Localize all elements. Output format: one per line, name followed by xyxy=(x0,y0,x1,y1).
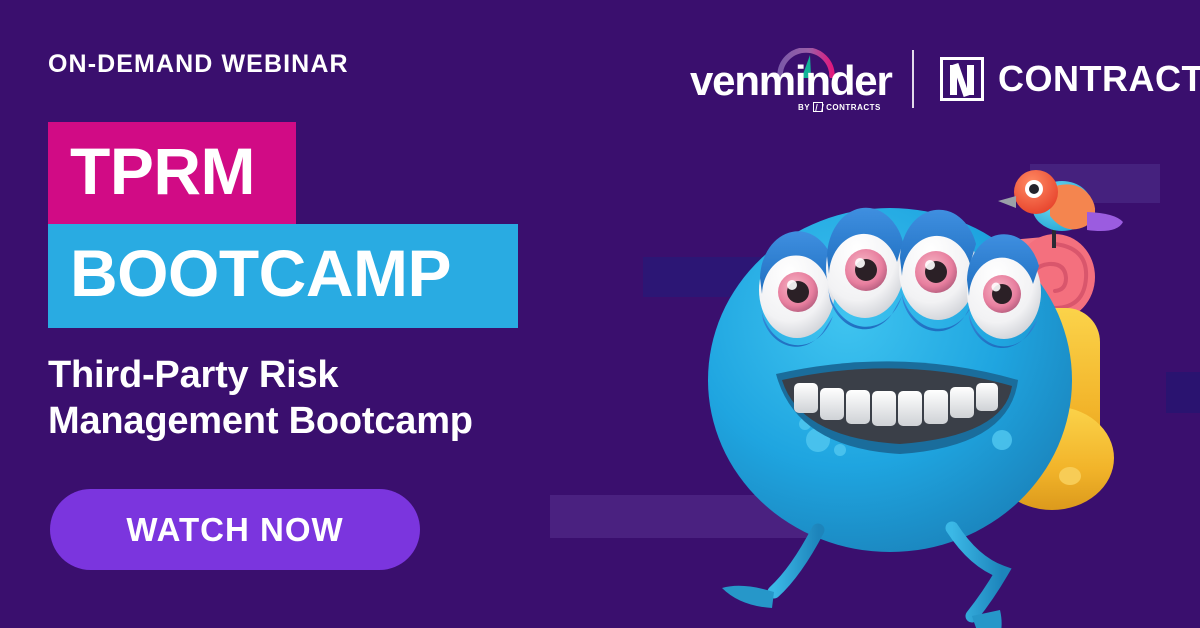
title-block: TPRM BOOTCAMP xyxy=(48,122,518,328)
logo-lockup: venminder BY CONTRACTS CONTRACTS xyxy=(690,48,1200,110)
n-diagonal-stroke xyxy=(953,63,970,97)
subtitle-block: Third-Party Risk Management Bootcamp xyxy=(48,352,473,445)
n-square-icon-small xyxy=(813,102,823,112)
blue-monster-mascot xyxy=(600,140,1200,628)
venminder-wordmark: venminder xyxy=(690,60,892,102)
webinar-promo-banner: venminder BY CONTRACTS CONTRACTS ON-DEMA… xyxy=(0,0,1200,628)
ncontracts-wordmark: CONTRACTS xyxy=(998,61,1200,97)
venminder-byline: BY CONTRACTS xyxy=(798,102,881,112)
title-tag-tprm: TPRM xyxy=(48,122,296,224)
byline-brand: CONTRACTS xyxy=(826,103,881,112)
title-tag-bootcamp: BOOTCAMP xyxy=(48,224,518,328)
venminder-logo[interactable]: venminder BY CONTRACTS xyxy=(690,48,898,110)
subtitle-line-2: Management Bootcamp xyxy=(48,398,473,444)
subtitle-line-1: Third-Party Risk xyxy=(48,352,473,398)
watch-now-button[interactable]: WATCH NOW xyxy=(50,489,420,570)
byline-prefix: BY xyxy=(798,103,810,112)
eyebrow-label: ON-DEMAND WEBINAR xyxy=(48,52,349,77)
ncontracts-logo[interactable]: CONTRACTS xyxy=(940,57,1200,101)
n-square-icon xyxy=(940,57,984,101)
logo-divider xyxy=(912,50,914,108)
